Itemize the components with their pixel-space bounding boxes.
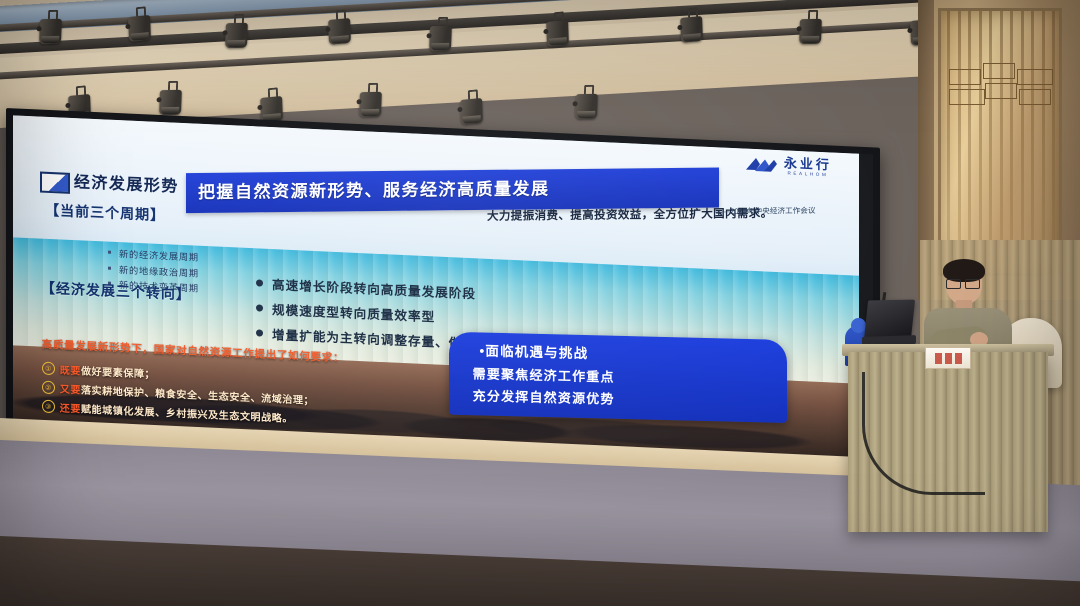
lattice-vertical-bar bbox=[947, 11, 950, 273]
stage-light-fixture bbox=[225, 20, 248, 51]
number-badge: ③ bbox=[42, 400, 55, 414]
stage-light-fixture bbox=[328, 15, 351, 47]
conference-room-scene: 永业行 REALHOM 把握自然资源新形势、服务经济高质量发展 大力提振消费、提… bbox=[0, 0, 1080, 606]
stage-light-fixture bbox=[575, 91, 598, 122]
section-title: 经济发展形势 bbox=[74, 169, 179, 198]
stage-light-fixture bbox=[680, 13, 703, 45]
lattice-vertical-bar bbox=[1042, 11, 1045, 273]
lattice-fret bbox=[983, 63, 1015, 79]
lattice-fret bbox=[1019, 89, 1051, 105]
number-badge: ② bbox=[42, 381, 55, 395]
lattice-vertical-bar bbox=[1031, 11, 1034, 273]
stage-light-fixture bbox=[460, 95, 483, 127]
lattice-vertical-bar bbox=[1052, 11, 1055, 273]
brand-logo: 永业行 REALHOM bbox=[744, 155, 832, 179]
numbered-requirements-list: ①既要做好要素保障；②又要落实耕地保护、粮食安全、生态安全、流域治理；③还要赋能… bbox=[42, 357, 314, 430]
lattice-panel bbox=[938, 8, 1062, 276]
lattice-vertical-bar bbox=[1021, 11, 1024, 273]
callout-line-1: •面临机遇与挑战 bbox=[479, 340, 588, 363]
callout-box: •面临机遇与挑战 需要聚焦经济工作重点 充分发挥自然资源优势 bbox=[449, 331, 787, 422]
lattice-fret bbox=[985, 83, 1017, 99]
lattice-vertical-bar bbox=[1010, 11, 1013, 273]
numbered-item-text: 既要做好要素保障； bbox=[60, 362, 155, 381]
logo-chinese-name: 永业行 bbox=[784, 157, 832, 172]
laptop-screen bbox=[864, 300, 915, 341]
lattice-vertical-bar bbox=[979, 11, 982, 273]
nameplate bbox=[925, 347, 971, 369]
lattice-fret bbox=[1017, 69, 1053, 85]
stage-light-fixture bbox=[546, 17, 569, 49]
callout-line-2: 需要聚焦经济工作重点 bbox=[472, 363, 614, 385]
stage-light-fixture bbox=[159, 87, 182, 118]
stage-light-fixture bbox=[359, 89, 382, 120]
glasses-icon bbox=[946, 279, 982, 287]
stage-light-fixture bbox=[128, 12, 151, 44]
number-badge: ① bbox=[42, 362, 55, 376]
stage-light-fixture bbox=[39, 16, 62, 47]
second-attendee-head bbox=[851, 318, 866, 333]
lattice-vertical-bar bbox=[989, 11, 992, 273]
led-display-screen: 永业行 REALHOM 把握自然资源新形势、服务经济高质量发展 大力提振消费、提… bbox=[6, 108, 866, 467]
section-marker-icon bbox=[40, 172, 70, 194]
lattice-vertical-bar bbox=[958, 11, 961, 273]
callout-line-3: 充分发挥自然资源优势 bbox=[472, 385, 614, 407]
presentation-slide: 永业行 REALHOM 把握自然资源新形势、服务经济高质量发展 大力提振消费、提… bbox=[13, 115, 859, 459]
lattice-vertical-bar bbox=[968, 11, 971, 273]
stage-light-fixture bbox=[799, 15, 822, 46]
slide-attribution: ——2025年中央经济工作会议 bbox=[715, 205, 815, 217]
lattice-vertical-bar bbox=[1000, 11, 1003, 273]
lattice-fret bbox=[949, 69, 981, 85]
company-logo-icon bbox=[744, 155, 778, 177]
slide-title: 把握自然资源新形势、服务经济高质量发展 bbox=[186, 168, 719, 204]
stage-light-fixture bbox=[429, 23, 452, 54]
lattice-fret bbox=[949, 89, 985, 105]
